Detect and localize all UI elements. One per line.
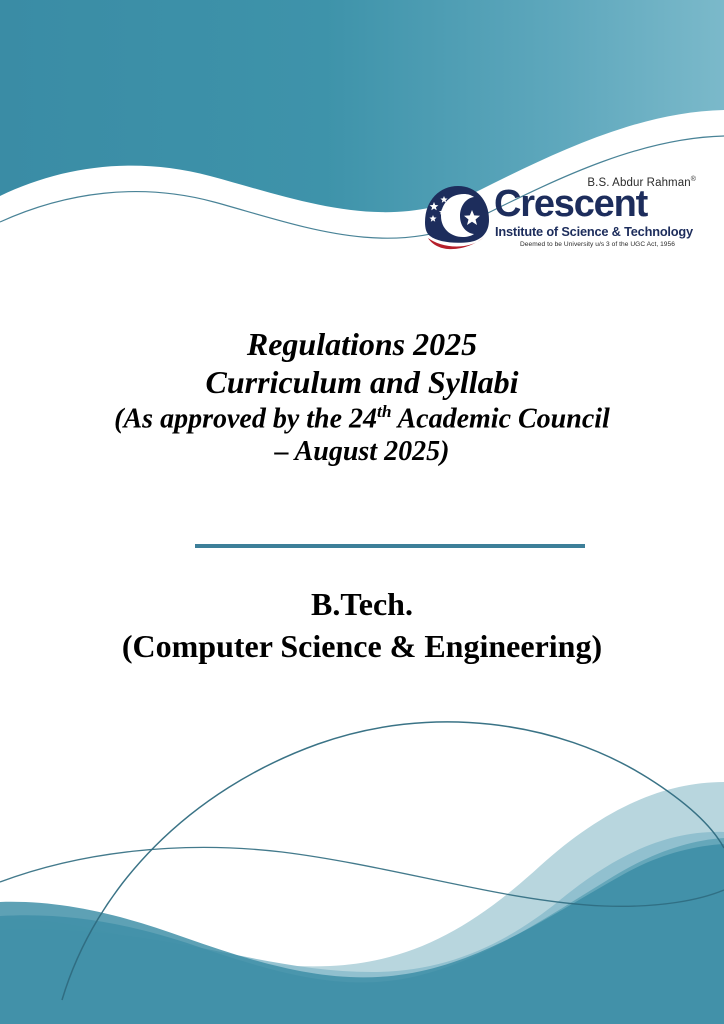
approval-text-post: Academic Council <box>392 403 610 434</box>
document-cover-page: B.S. Abdur Rahman® Crescent Institute of… <box>0 0 724 1024</box>
bottom-wave-base <box>0 844 724 1024</box>
bottom-outline-arc-large <box>62 722 724 1000</box>
logo-wordmark: Crescent <box>494 185 647 223</box>
bottom-outline-arc-small <box>0 847 724 906</box>
title-line-date: – August 2025) <box>0 435 724 468</box>
document-title: Regulations 2025 Curriculum and Syllabi … <box>0 326 724 468</box>
bottom-decoration <box>0 0 724 1024</box>
approval-text-pre: (As approved by the 24 <box>114 403 377 434</box>
institution-logo: B.S. Abdur Rahman® Crescent Institute of… <box>420 176 698 258</box>
logo-institute-line: Institute of Science & Technology <box>495 224 693 239</box>
title-divider-rule <box>195 544 585 548</box>
logo-wordmark-block: B.S. Abdur Rahman® Crescent Institute of… <box>494 176 698 258</box>
title-line-approval: (As approved by the 24th Academic Counci… <box>0 402 724 435</box>
program-degree: B.Tech. <box>0 584 724 626</box>
title-line-regulations: Regulations 2025 <box>0 326 724 364</box>
bottom-wave-layer-3 <box>0 838 724 1024</box>
program-title: B.Tech. (Computer Science & Engineering) <box>0 584 724 667</box>
ordinal-suffix: th <box>377 402 391 421</box>
bottom-wave-layer-1 <box>0 782 724 1024</box>
top-decoration <box>0 0 724 1024</box>
title-line-curriculum: Curriculum and Syllabi <box>0 364 724 402</box>
crescent-moon-and-stars-emblem <box>420 182 494 256</box>
registered-trademark-icon: ® <box>691 176 696 183</box>
program-branch: (Computer Science & Engineering) <box>0 626 724 668</box>
logo-ugc-line: Deemed to be University u/s 3 of the UGC… <box>520 241 675 248</box>
bottom-wave-layer-2 <box>0 832 724 1024</box>
